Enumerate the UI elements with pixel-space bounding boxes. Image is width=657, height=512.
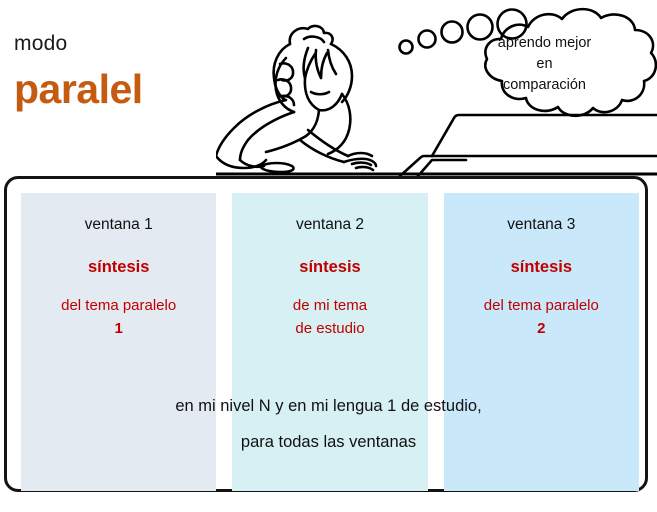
window-description-1-line-1: del tema paralelo <box>61 297 176 314</box>
windows-frame: ventana 1 síntesis del tema paralelo 1 v… <box>4 176 648 492</box>
window-label-2: ventana 2 <box>232 215 427 235</box>
window-description-3-line-2: 2 <box>444 317 639 340</box>
synthesis-label-1: síntesis <box>21 257 216 277</box>
thought-bubble-line-2: en <box>462 54 627 75</box>
window-column-3[interactable]: ventana 3 síntesis del tema paralelo 2 <box>444 193 639 491</box>
window-label-3: ventana 3 <box>444 215 639 235</box>
window-description-1: del tema paralelo 1 <box>21 294 216 340</box>
window-description-3: del tema paralelo 2 <box>444 294 639 340</box>
modo-label: modo <box>14 32 67 56</box>
window-column-2[interactable]: ventana 2 síntesis de mi tema de estudio <box>232 193 427 491</box>
thought-bubble-text: aprendo mejor en comparación <box>462 33 627 96</box>
window-description-1-line-2: 1 <box>21 317 216 340</box>
windows-columns: ventana 1 síntesis del tema paralelo 1 v… <box>21 193 639 491</box>
window-description-3-line-1: del tema paralelo <box>484 297 599 314</box>
page-title: paralel <box>14 66 143 113</box>
thought-bubble-line-1: aprendo mejor <box>462 33 627 54</box>
window-description-2-line-1: de mi tema <box>293 297 367 314</box>
synthesis-label-3: síntesis <box>444 257 639 277</box>
thought-bubble-line-3: comparación <box>462 75 627 96</box>
window-description-2-line-2: de estudio <box>232 317 427 340</box>
synthesis-label-2: síntesis <box>232 257 427 277</box>
window-description-2: de mi tema de estudio <box>232 294 427 340</box>
window-column-1[interactable]: ventana 1 síntesis del tema paralelo 1 <box>21 193 216 491</box>
header-area: modo paralel <box>0 0 657 172</box>
window-label-1: ventana 1 <box>21 215 216 235</box>
